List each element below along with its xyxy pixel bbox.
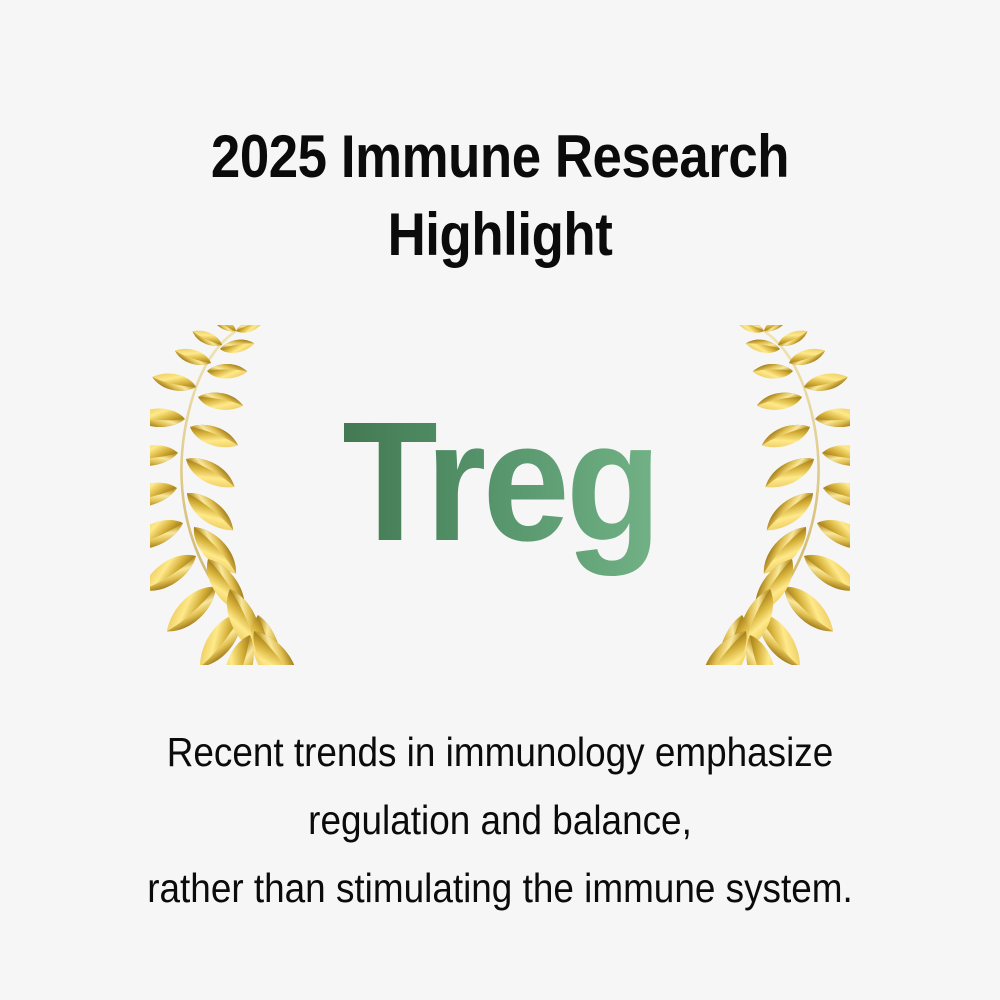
- subtitle: Recent trends in immunology emphasize re…: [0, 718, 1000, 922]
- subtitle-line-1: Recent trends in immunology emphasize: [50, 718, 950, 786]
- title-line-2: Highlight: [60, 196, 940, 274]
- subtitle-line-2: regulation and balance,: [50, 786, 950, 854]
- title-line-1: 2025 Immune Research: [60, 118, 940, 196]
- wreath-right-branch: [693, 325, 850, 665]
- award-emblem: Treg: [150, 325, 850, 665]
- subtitle-line-3: rather than stimulating the immune syste…: [50, 854, 950, 922]
- laurel-wreath-icon: [150, 325, 850, 665]
- wreath-left-branch: [150, 325, 307, 665]
- page-title: 2025 Immune Research Highlight: [0, 118, 1000, 274]
- award-highlight-card: 2025 Immune Research Highlight: [0, 0, 1000, 1000]
